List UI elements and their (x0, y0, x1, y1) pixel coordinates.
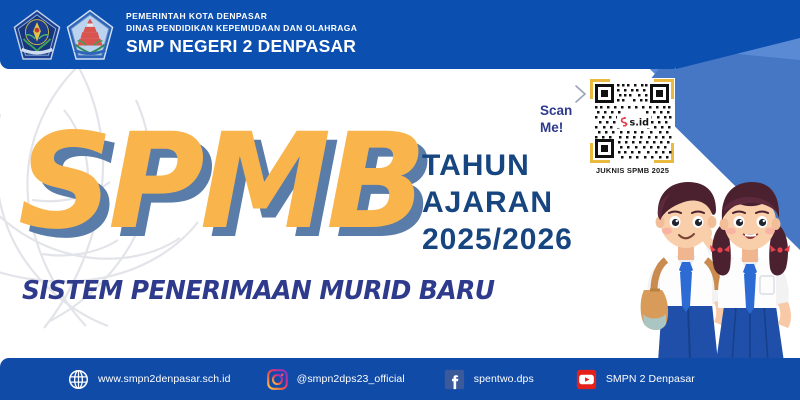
education-office-emblem (66, 9, 114, 61)
svg-text:s.id: s.id (630, 118, 650, 129)
logo-group (13, 9, 114, 61)
spmb-subtitle: SISTEM PENERIMAAN MURID BARU (22, 276, 494, 306)
spmb-acronym-wrap: SPMB (18, 126, 422, 240)
academic-year-value: 2025/2026 (422, 222, 573, 259)
footer-instagram[interactable]: @smpn2dps23_official (267, 369, 405, 390)
youtube-icon (576, 369, 597, 390)
scan-me-label: Scan Me! (540, 103, 572, 137)
footer-website[interactable]: www.smpn2denpasar.sch.id (68, 369, 231, 390)
qr-caption: JUKNIS SPMB 2025 (586, 166, 679, 175)
scan-me-line-1: Scan (540, 103, 572, 120)
facebook-label: spentwo.dps (474, 373, 534, 385)
scan-me-line-2: Me! (540, 120, 572, 137)
footer-facebook[interactable]: spentwo.dps (444, 369, 534, 390)
social-footer: www.smpn2denpasar.sch.id @smpn2dps23_off… (0, 358, 800, 400)
academic-year-block: TAHUN AJARAN 2025/2026 (422, 148, 573, 259)
footer-youtube[interactable]: SMPN 2 Denpasar (576, 369, 695, 390)
chevron-right-icon (574, 84, 588, 104)
qr-code[interactable]: s.id (589, 78, 675, 164)
denpasar-city-emblem (13, 9, 61, 61)
spmb-announcement-banner: PEMERINTAH KOTA DENPASAR DINAS PENDIDIKA… (0, 0, 800, 400)
facebook-icon (444, 369, 465, 390)
student-illustration (636, 172, 800, 362)
government-line: PEMERINTAH KOTA DENPASAR (126, 12, 357, 22)
boy-student (641, 182, 727, 362)
instagram-label: @smpn2dps23_official (297, 373, 405, 385)
department-line: DINAS PENDIDIKAN KEPEMUDAAN DAN OLAHRAGA (126, 24, 357, 34)
header-text-block: PEMERINTAH KOTA DENPASAR DINAS PENDIDIKA… (126, 12, 357, 57)
banner-header: PEMERINTAH KOTA DENPASAR DINAS PENDIDIKA… (0, 0, 676, 69)
academic-year-line-2: AJARAN (422, 185, 573, 222)
academic-year-line-1: TAHUN (422, 148, 573, 185)
school-name: SMP NEGERI 2 DENPASAR (126, 37, 357, 57)
globe-icon (68, 369, 89, 390)
website-label: www.smpn2denpasar.sch.id (98, 373, 231, 385)
instagram-icon (267, 369, 288, 390)
spmb-acronym: SPMB (18, 126, 422, 240)
youtube-label: SMPN 2 Denpasar (606, 373, 695, 385)
